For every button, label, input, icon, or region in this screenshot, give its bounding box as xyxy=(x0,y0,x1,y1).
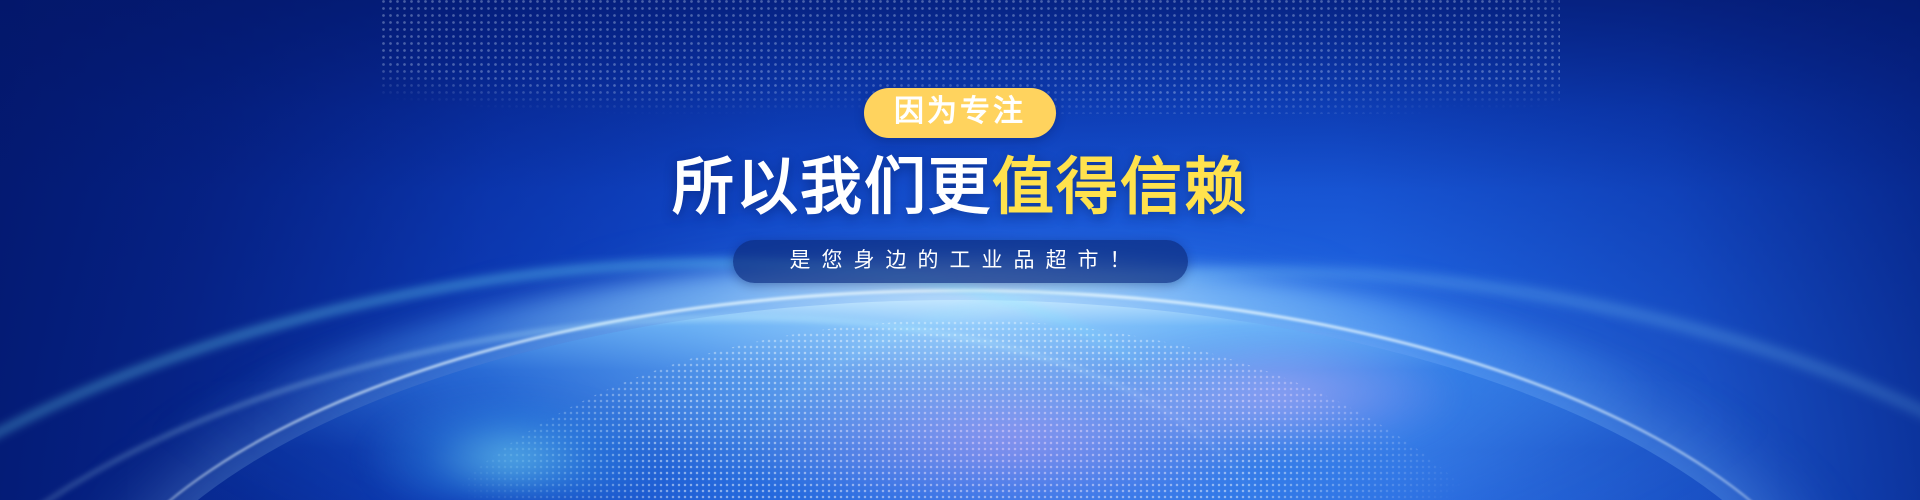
promotional-banner: 因为专注 所以我们更值得信赖 是您身边的工业品超市！ xyxy=(0,0,1920,500)
banner-content: 因为专注 所以我们更值得信赖 是您身边的工业品超市！ xyxy=(0,88,1920,283)
headline-accent-text: 值得信赖 xyxy=(992,153,1248,222)
headline-primary-text: 所以我们更 xyxy=(672,153,992,222)
subtitle-bar: 是您身边的工业品超市！ xyxy=(733,240,1188,283)
cyan-light-burst xyxy=(250,310,670,500)
headline: 所以我们更值得信赖 xyxy=(0,155,1920,222)
tagline-badge: 因为专注 xyxy=(864,88,1056,138)
magenta-light-wash-secondary xyxy=(1020,310,1540,480)
